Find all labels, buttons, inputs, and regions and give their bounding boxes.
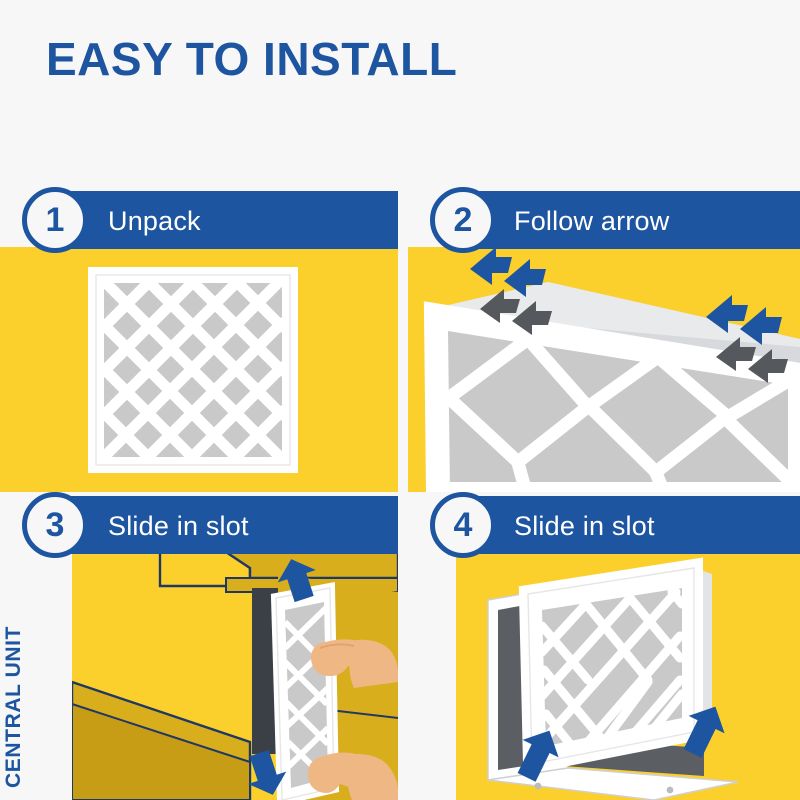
step-3-number-badge: 3 (22, 492, 88, 558)
step-2-illustration-panel (408, 247, 800, 492)
step-4-label: Slide in slot (514, 511, 655, 542)
filter-panel (528, 568, 712, 764)
step-4-label-strip (408, 552, 456, 800)
infographic-page: EASY TO INSTALL (0, 0, 800, 800)
step-1-number-badge: 1 (22, 187, 88, 253)
step-1-label: Unpack (108, 206, 201, 237)
page-title: EASY TO INSTALL (46, 36, 457, 82)
step-3-unit-label: CENTRAL UNIT (2, 626, 26, 788)
step-2-number-badge: 2 (430, 187, 496, 253)
air-filter-front-icon (0, 247, 398, 492)
step-3-label: Slide in slot (108, 511, 249, 542)
step-3-illustration-panel: CENTRAL UNIT (0, 552, 398, 800)
step-1-illustration-panel (0, 247, 398, 492)
wall-unit-install-icon (408, 552, 800, 800)
air-filter-angled-airflow-icon (408, 247, 800, 492)
step-2-label: Follow arrow (514, 206, 669, 237)
step-1-header-bar (42, 191, 398, 249)
step-4-number-badge: 4 (430, 492, 496, 558)
step-4-illustration-panel: WALL UNIT (408, 552, 800, 800)
